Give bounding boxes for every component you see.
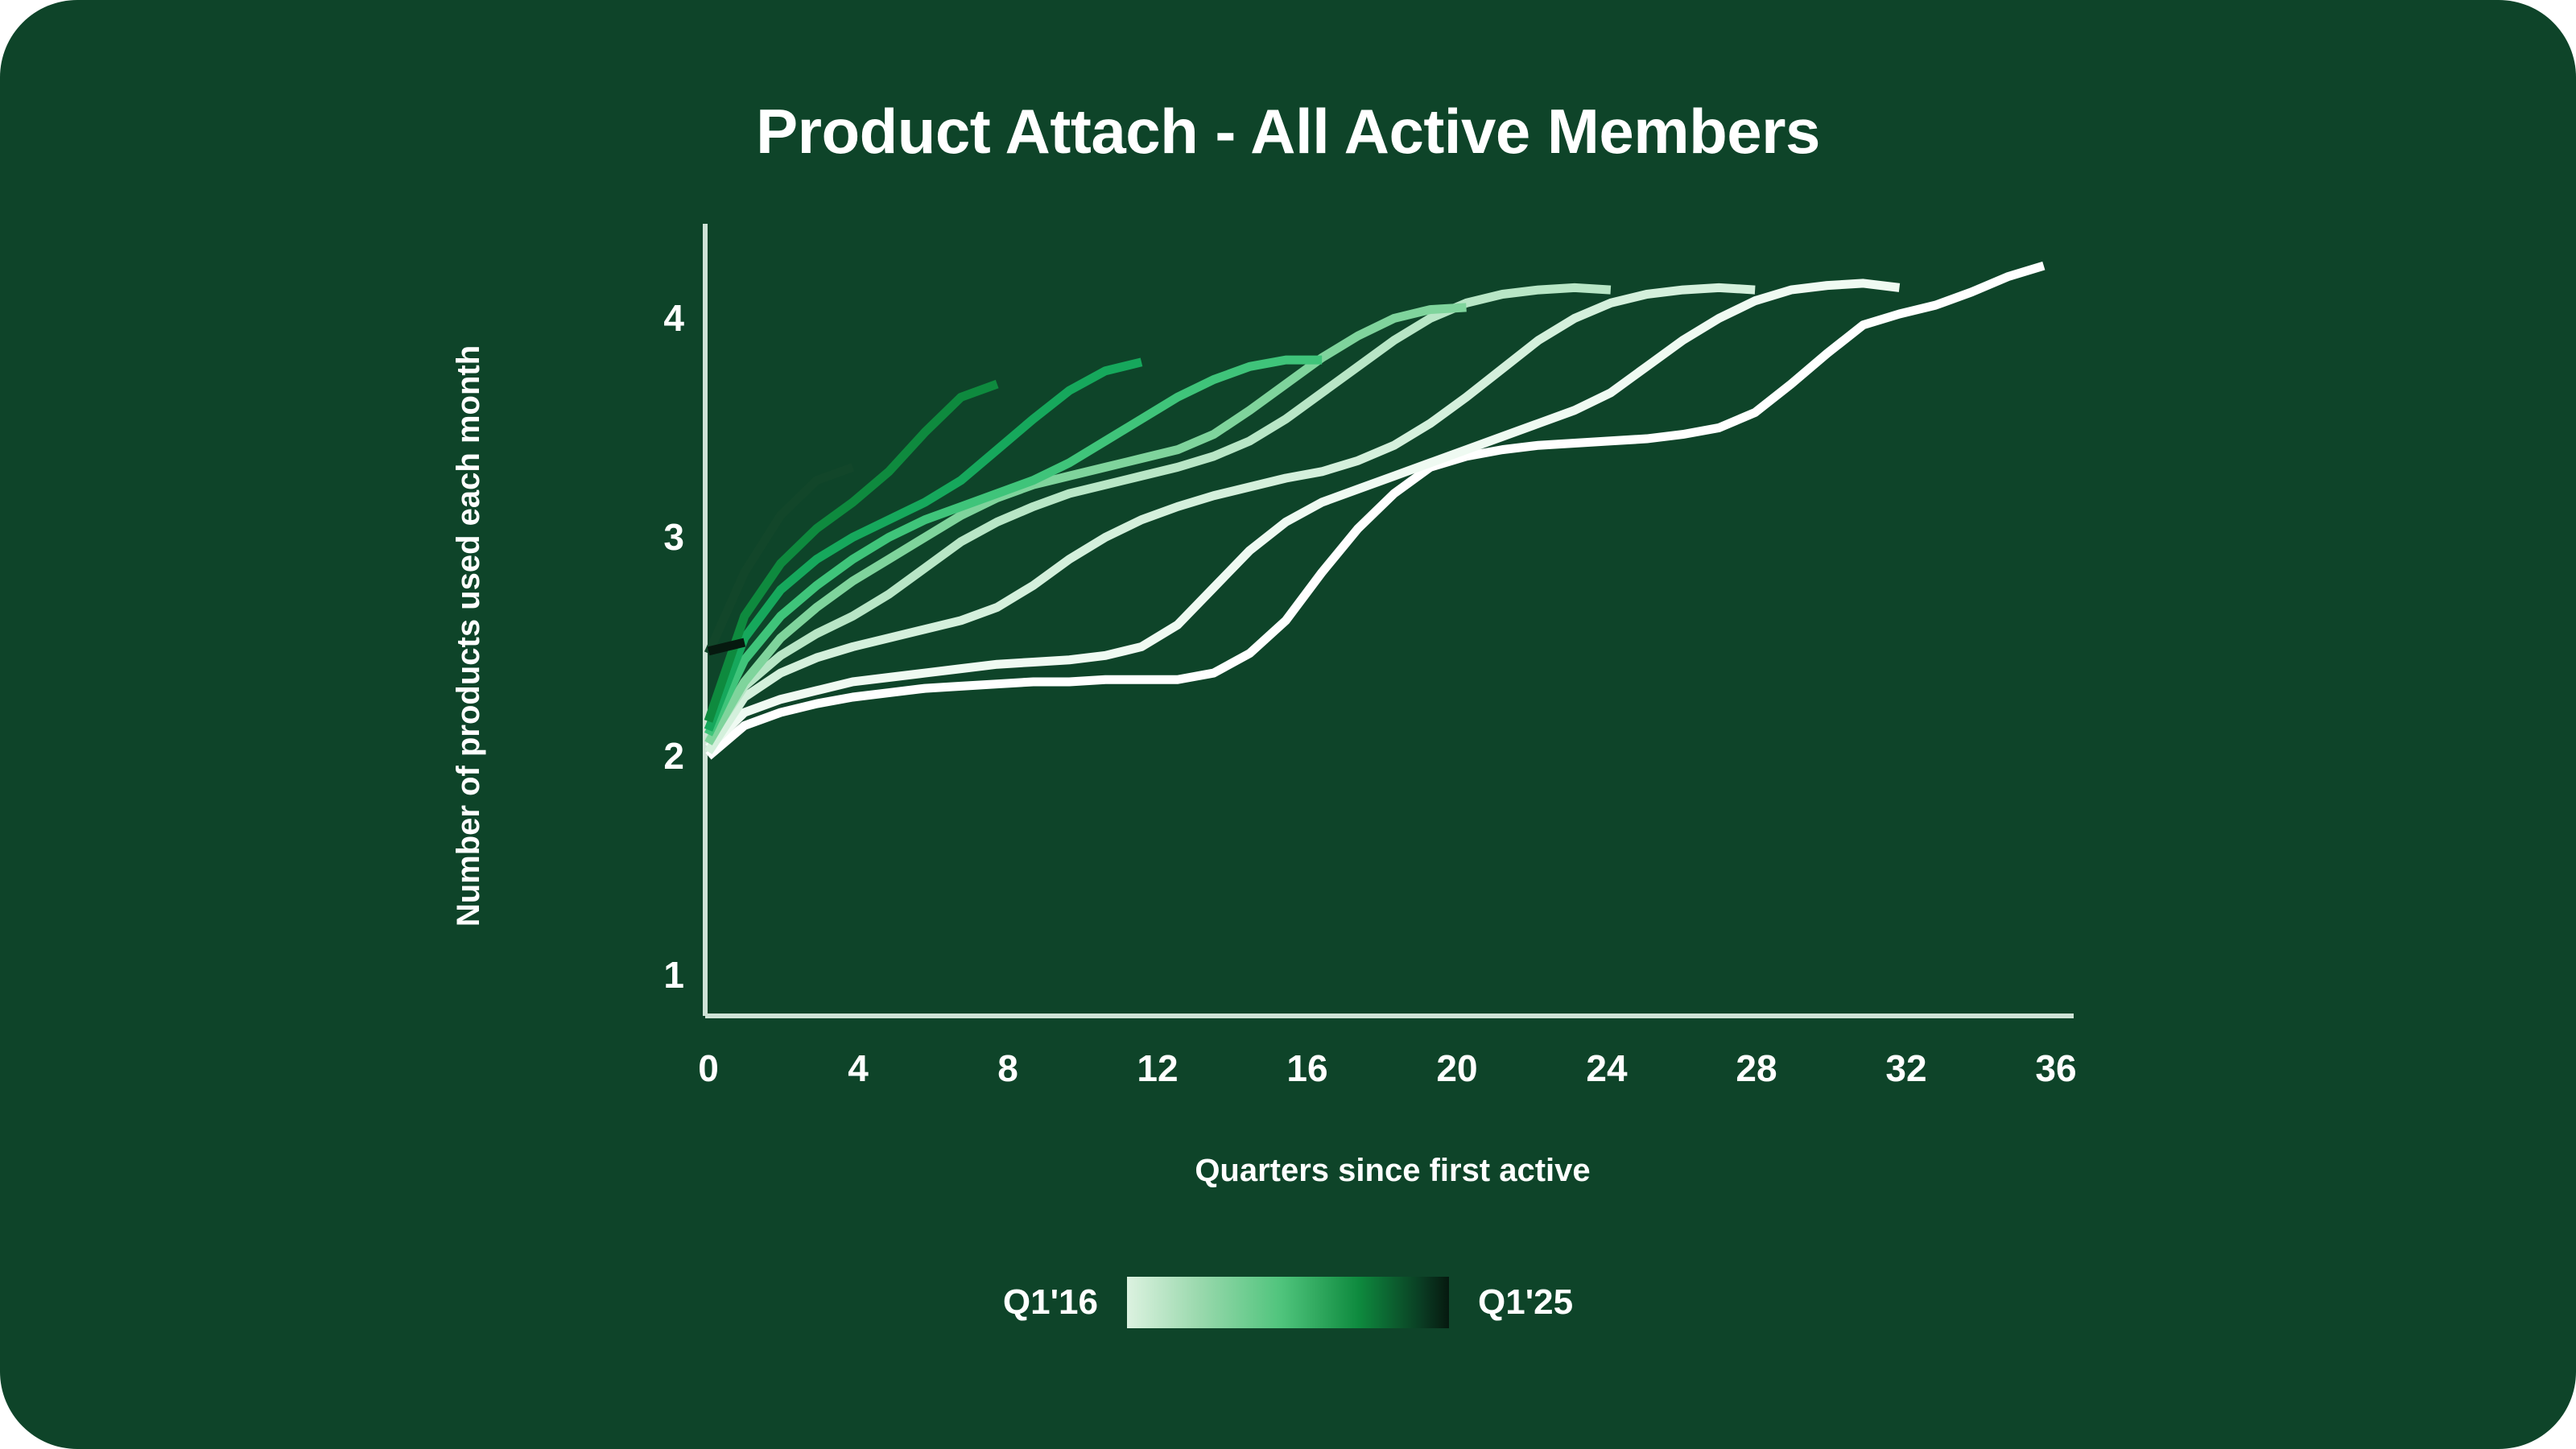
series-group (708, 266, 2044, 756)
x-tick-0: 0 (660, 1046, 757, 1090)
x-tick-8: 8 (960, 1046, 1056, 1090)
x-tick-32: 32 (1858, 1046, 1955, 1090)
x-tick-24: 24 (1558, 1046, 1655, 1090)
y-tick-1: 1 (612, 953, 684, 997)
x-tick-36: 36 (2008, 1046, 2104, 1090)
x-tick-20: 20 (1409, 1046, 1505, 1090)
series-line (708, 283, 1900, 748)
legend-colorbar: Q1'16 Q1'25 (926, 1272, 1650, 1333)
chart-plot (0, 0, 2576, 1449)
y-tick-4: 4 (612, 296, 684, 340)
y-axis-title: Number of products used each month (451, 242, 499, 1030)
y-tick-2: 2 (612, 734, 684, 778)
chart-card: Product Attach - All Active Members Numb… (0, 0, 2576, 1449)
x-tick-16: 16 (1259, 1046, 1356, 1090)
x-axis-title: Quarters since first active (708, 1153, 2077, 1189)
legend-label-start: Q1'16 (1003, 1282, 1098, 1323)
legend-label-end: Q1'25 (1478, 1282, 1573, 1323)
legend-gradient-bar (1127, 1277, 1449, 1328)
y-tick-3: 3 (612, 515, 684, 559)
x-tick-28: 28 (1708, 1046, 1805, 1090)
x-tick-12: 12 (1109, 1046, 1206, 1090)
x-tick-4: 4 (810, 1046, 906, 1090)
